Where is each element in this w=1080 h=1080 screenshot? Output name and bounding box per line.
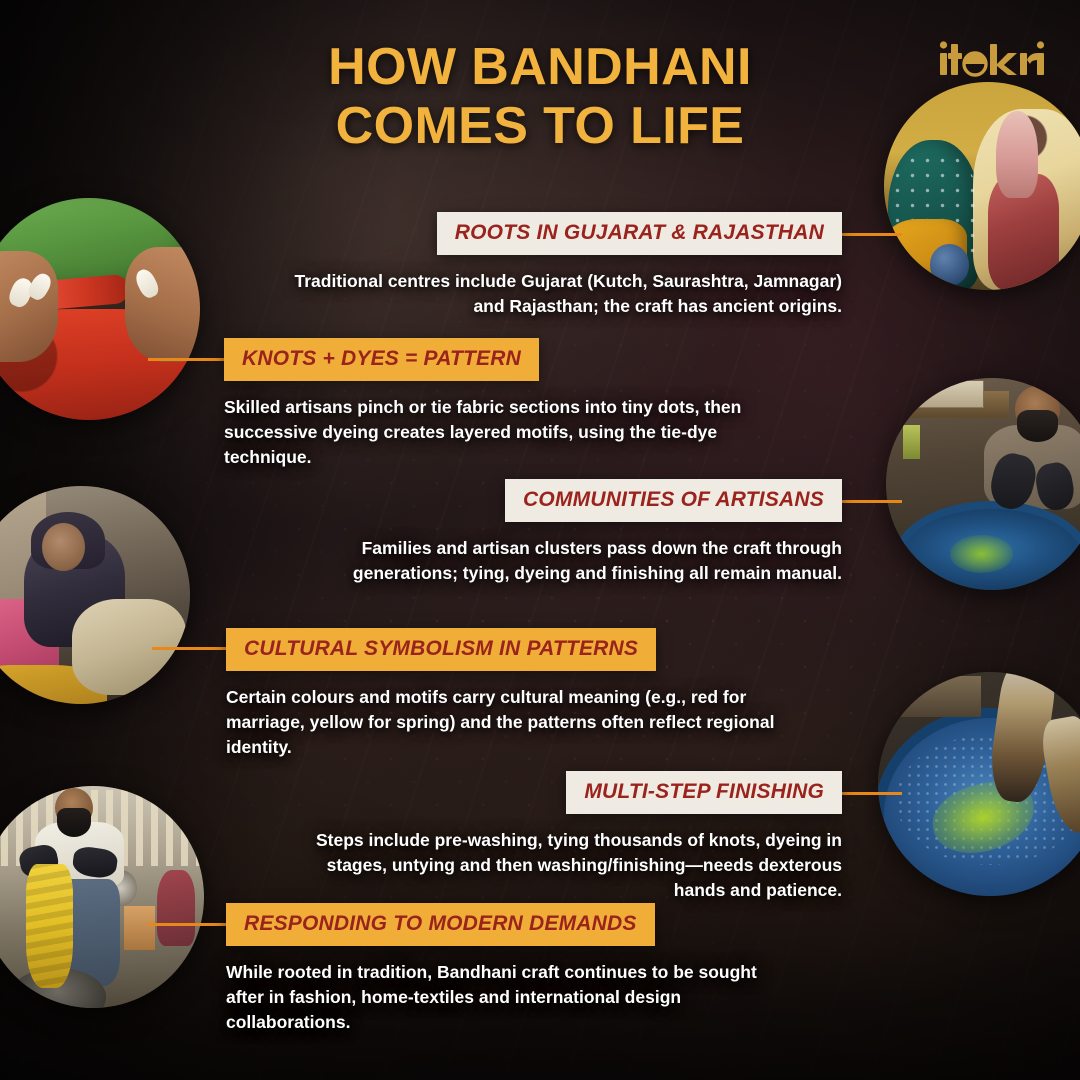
connector-line-5 (838, 792, 902, 795)
section-roots-in-gujarat-rajasthan: ROOTS IN GUJARAT & RAJASTHAN Traditional… (270, 212, 842, 319)
section-body: While rooted in tradition, Bandhani craf… (226, 960, 786, 1035)
blue-bucket (930, 244, 970, 286)
scene-yellow-lift (0, 786, 204, 1008)
connector-line-6 (148, 923, 228, 926)
title-line-2: COMES TO LIFE (130, 97, 950, 156)
section-cultural-symbolism-in-patterns: CULTURAL SYMBOLISM IN PATTERNS Certain c… (226, 628, 786, 760)
section-body: Certain colours and motifs carry cultura… (226, 685, 786, 760)
photo-blue-dye-tub-closeup (878, 672, 1080, 896)
left-hand (0, 251, 58, 362)
photo-dyer-lifting-yellow-fabric (0, 786, 204, 1008)
section-label[interactable]: CULTURAL SYMBOLISM IN PATTERNS (226, 628, 656, 671)
dye-bottle (903, 425, 920, 459)
section-body: Families and artisan clusters pass down … (270, 536, 842, 586)
photo-dyer-gloves-at-vat (886, 378, 1080, 590)
infographic-poster: HOW BANDHANI COMES TO LIFE (0, 0, 1080, 1080)
photo-hands-tying-red-fabric (0, 198, 200, 420)
section-multi-step-finishing: MULTI-STEP FINISHING Steps include pre-w… (300, 771, 842, 903)
section-body: Traditional centres include Gujarat (Kut… (270, 269, 842, 319)
photo-circle (0, 486, 190, 704)
scene-blue-tub (878, 672, 1080, 896)
section-communities-of-artisans: COMMUNITIES OF ARTISANS Families and art… (270, 479, 842, 586)
section-label[interactable]: MULTI-STEP FINISHING (566, 771, 842, 814)
connector-line-1 (838, 233, 902, 236)
connector-line-4 (152, 647, 228, 650)
head (42, 523, 86, 571)
shop-sign (899, 380, 984, 408)
itokri-logo[interactable] (938, 40, 1046, 80)
section-label[interactable]: KNOTS + DYES = PATTERN (224, 338, 539, 381)
green-dye-splash (950, 535, 1014, 573)
yellow-dyed-fabric (26, 864, 73, 988)
photo-woman-seated-tying-knots (0, 486, 190, 704)
photo-circle (886, 378, 1080, 590)
dyer-beard (1017, 410, 1057, 442)
connector-line-2 (148, 358, 226, 361)
wooden-stool (124, 906, 155, 950)
page-title: HOW BANDHANI COMES TO LIFE (130, 38, 950, 157)
right-hand (125, 247, 200, 362)
section-label[interactable]: ROOTS IN GUJARAT & RAJASTHAN (437, 212, 842, 255)
section-body: Skilled artisans pinch or tie fabric sec… (224, 395, 794, 470)
connector-line-3 (840, 500, 902, 503)
section-knots-dyes-pattern: KNOTS + DYES = PATTERN Skilled artisans … (224, 338, 794, 470)
section-label[interactable]: COMMUNITIES OF ARTISANS (505, 479, 842, 522)
dyer-beard (57, 808, 90, 837)
scene-hands-red (0, 198, 200, 420)
photo-circle (0, 198, 200, 420)
scene-woman-seated (0, 486, 190, 704)
seated-person (157, 870, 195, 945)
title-line-1: HOW BANDHANI (130, 38, 950, 97)
section-responding-to-modern-demands: RESPONDING TO MODERN DEMANDS While roote… (226, 903, 786, 1035)
background-shelf (882, 676, 981, 716)
scene-dyer-vat (886, 378, 1080, 590)
section-label[interactable]: RESPONDING TO MODERN DEMANDS (226, 903, 655, 946)
photo-circle (878, 672, 1080, 896)
photo-circle (0, 786, 204, 1008)
section-body: Steps include pre-washing, tying thousan… (300, 828, 842, 903)
pink-veil (996, 111, 1038, 198)
